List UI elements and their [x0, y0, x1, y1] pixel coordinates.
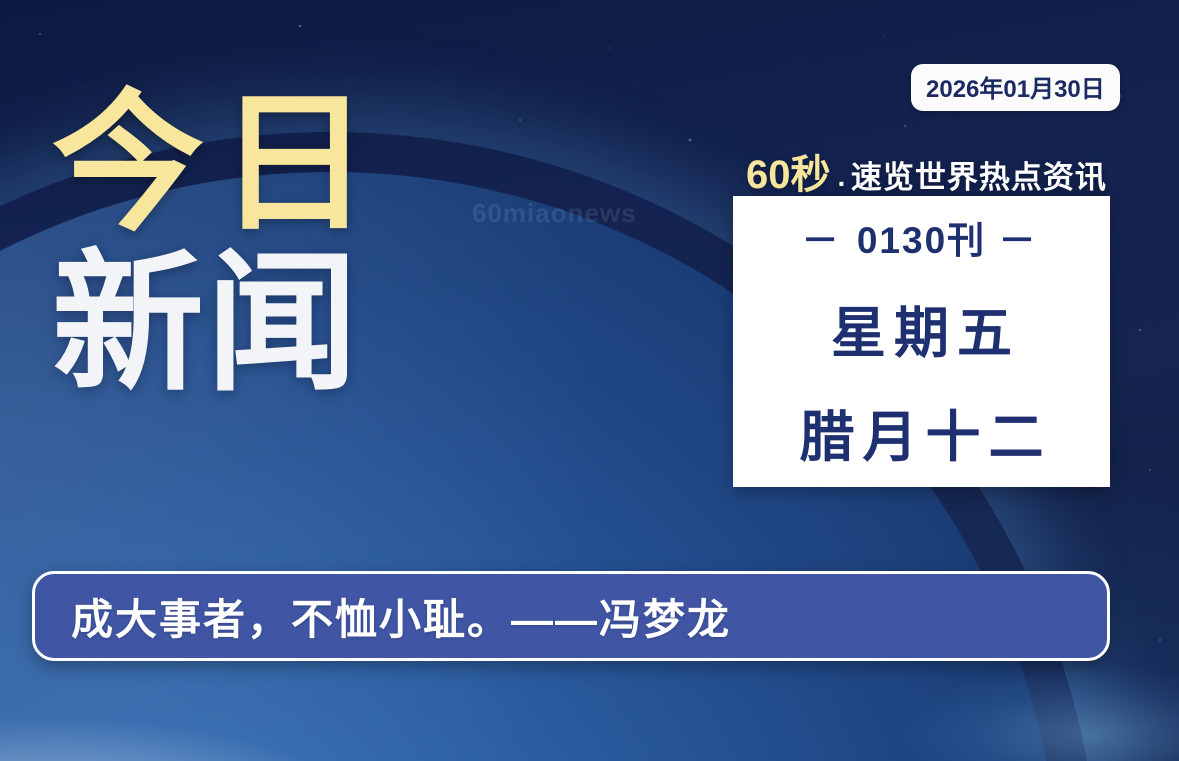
tagline-number: 60秒 [746, 153, 831, 197]
weekday-label: 星期五 [823, 288, 1020, 368]
quote-bar: 成大事者，不恤小耻。——冯梦龙 [32, 571, 1110, 661]
issue-info-card: － 0130刊 － 星期五 腊月十二 [733, 196, 1110, 487]
headline-line-2: 新闻 [52, 252, 482, 398]
tagline: 60秒·速览世界热点资讯 [746, 142, 1107, 200]
issue-number-label: － 0130刊 － [802, 210, 1042, 264]
date-badge: 2026年01月30日 [911, 64, 1120, 111]
headline-line-1: 今日 [52, 92, 482, 238]
issue-dash-left: － [802, 220, 845, 261]
quote-text: 成大事者，不恤小耻。——冯梦龙 [35, 586, 731, 647]
issue-dash-right: － [998, 220, 1041, 261]
tagline-text: 速览世界热点资讯 [851, 160, 1107, 195]
news-poster: 60miaonews 今日 新闻 2026年01月30日 60秒·速览世界热点资… [0, 0, 1179, 761]
tagline-separator: · [838, 168, 847, 199]
lunar-date-label: 腊月十二 [791, 392, 1051, 472]
issue-number: 0130刊 [857, 220, 986, 261]
page-title: 今日 新闻 [52, 92, 482, 398]
